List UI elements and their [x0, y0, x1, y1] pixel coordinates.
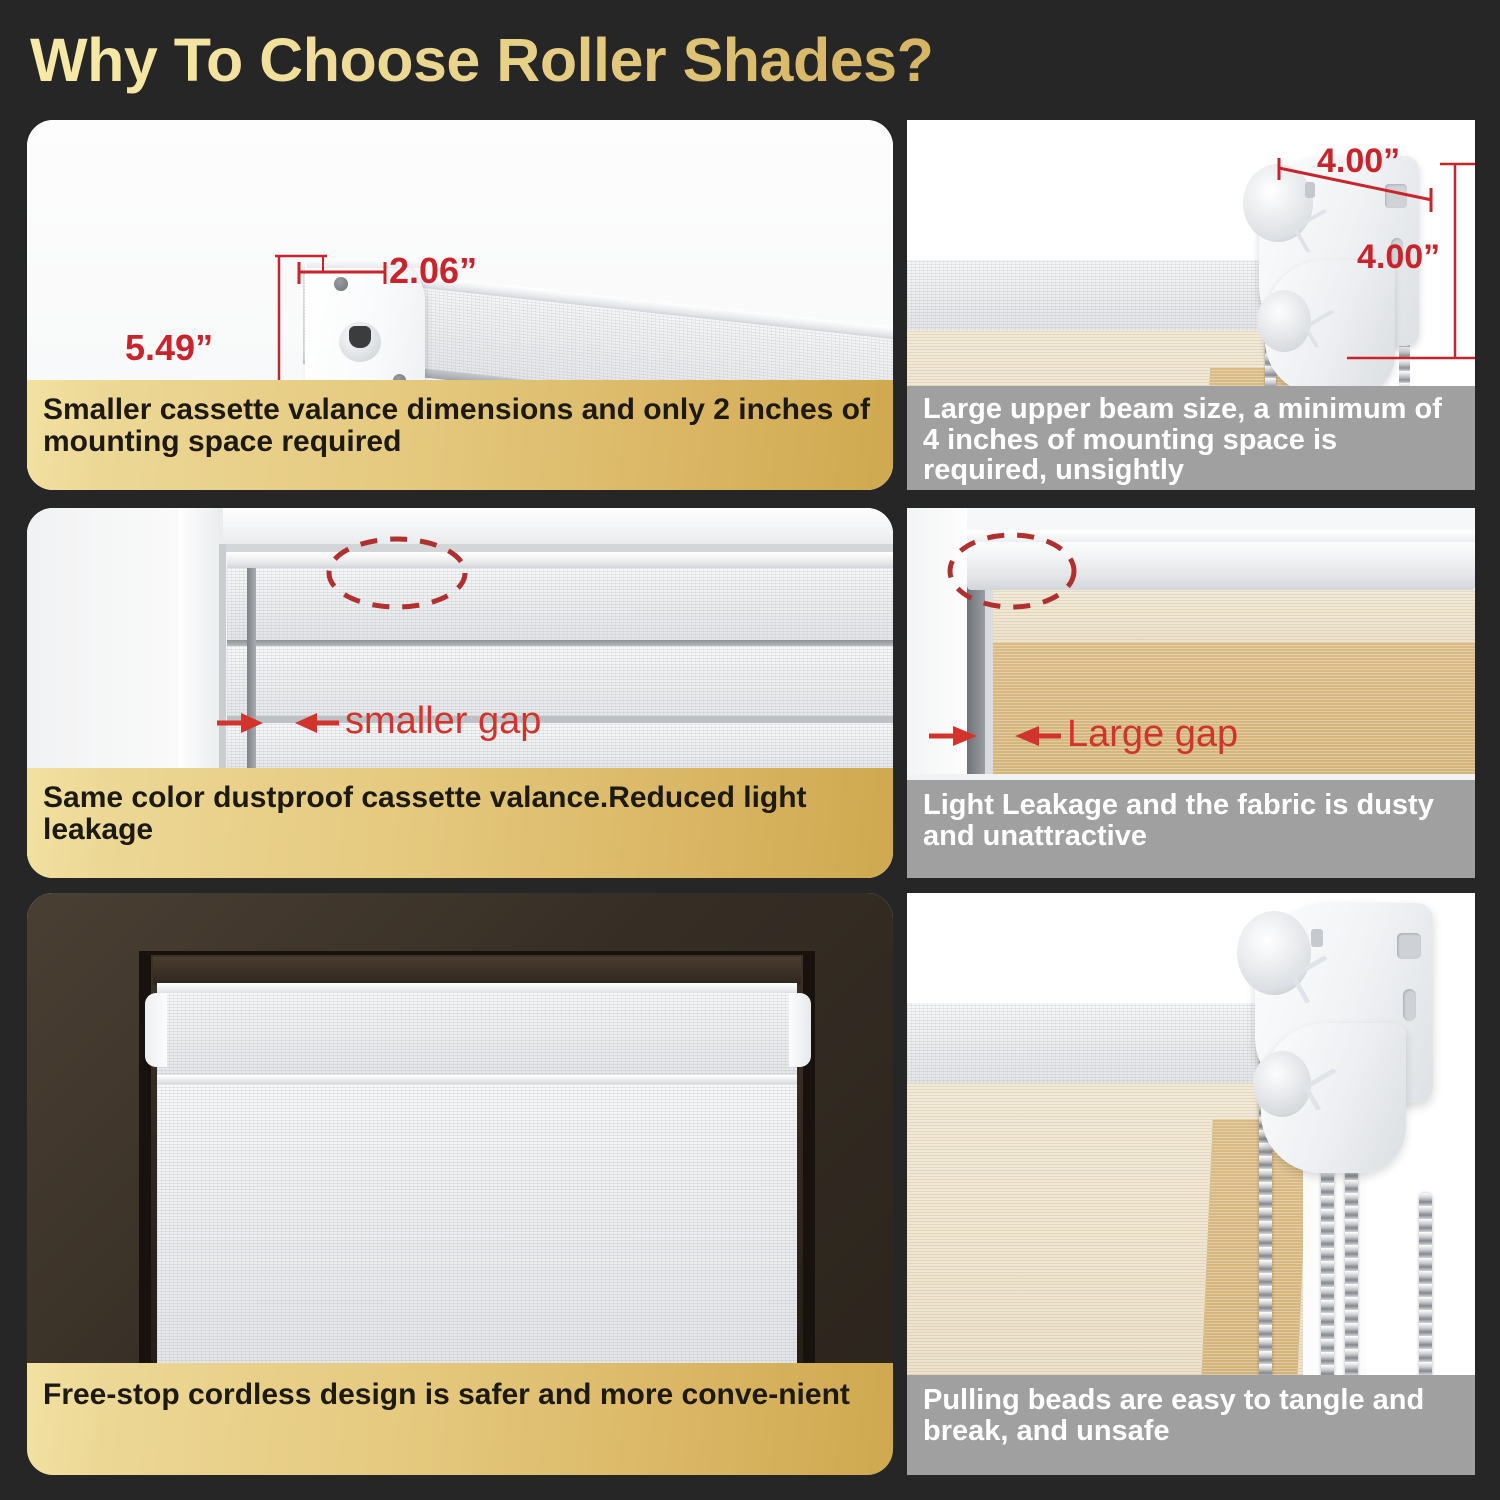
bead-chain[interactable]	[1419, 1193, 1432, 1383]
panel-bad-large-gap: Large gap Light Leakage and the fabric i…	[907, 508, 1475, 878]
panel-bad-pull-beads: Pulling beads are easy to tangle and bre…	[907, 893, 1475, 1475]
dimension-label-width: 2.06”	[389, 250, 477, 292]
shade-fabric	[157, 1084, 797, 1372]
gap-label-smaller: smaller gap	[345, 700, 541, 743]
dimension-label-width: 4.00”	[1317, 142, 1400, 181]
caption-good-small-gap: Same color dustproof cassette valance.Re…	[27, 768, 893, 878]
panel-good-small-gap: smaller gap Same color dustproof cassett…	[27, 508, 893, 878]
dimension-label-height: 5.49”	[125, 327, 213, 369]
page-title: Why To Choose Roller Shades?	[30, 20, 1130, 100]
panel-good-cordless: Free-stop cordless design is safer and m…	[27, 893, 893, 1475]
gap-label-large: Large gap	[1067, 713, 1238, 756]
caption-good-cordless: Free-stop cordless design is safer and m…	[27, 1363, 893, 1475]
panel-bad-large-upper-beam: 4.00” 4.00” Large upper beam size, a min…	[907, 120, 1475, 490]
panel-good-cassette-dimensions: 2.06” 5.49” Smaller cassette valance dim…	[27, 120, 893, 490]
dimension-label-height: 4.00”	[1357, 238, 1440, 277]
caption-bad-large-upper-beam: Large upper beam size, a minimum of 4 in…	[907, 386, 1475, 490]
caption-bad-pull-beads: Pulling beads are easy to tangle and bre…	[907, 1375, 1475, 1475]
caption-bad-large-gap: Light Leakage and the fabric is dusty an…	[907, 780, 1475, 878]
caption-good-cassette-dimensions: Smaller cassette valance dimensions and …	[27, 380, 893, 490]
